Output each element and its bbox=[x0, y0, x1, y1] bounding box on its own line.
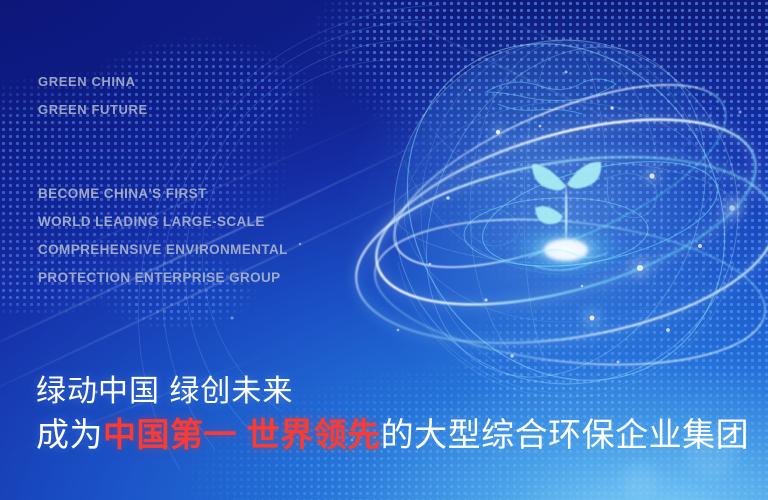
claim-line-3: COMPREHENSIVE ENVIRONMENTAL bbox=[38, 242, 288, 257]
headline-line-2: 成为中国第一 世界领先的大型综合环保企业集团 bbox=[36, 408, 749, 456]
headline-line-1: 绿动中国 绿创未来 bbox=[36, 366, 293, 410]
claim-line-4: PROTECTION ENTERPRISE GROUP bbox=[38, 270, 281, 285]
eyebrow-line-2: GREEN FUTURE bbox=[38, 102, 148, 117]
headline-prefix: 成为 bbox=[36, 416, 103, 453]
headline-highlight: 中国第一 世界领先 bbox=[103, 416, 381, 453]
claim-line-1: BECOME CHINA'S FIRST bbox=[38, 186, 207, 201]
text-content: GREEN CHINA GREEN FUTURE BECOME CHINA'S … bbox=[0, 0, 768, 500]
hero-banner: GREEN CHINA GREEN FUTURE BECOME CHINA'S … bbox=[0, 0, 768, 500]
claim-line-2: WORLD LEADING LARGE-SCALE bbox=[38, 214, 265, 229]
headline-suffix: 的大型综合环保企业集团 bbox=[381, 416, 750, 453]
eyebrow-line-1: GREEN CHINA bbox=[38, 74, 136, 89]
